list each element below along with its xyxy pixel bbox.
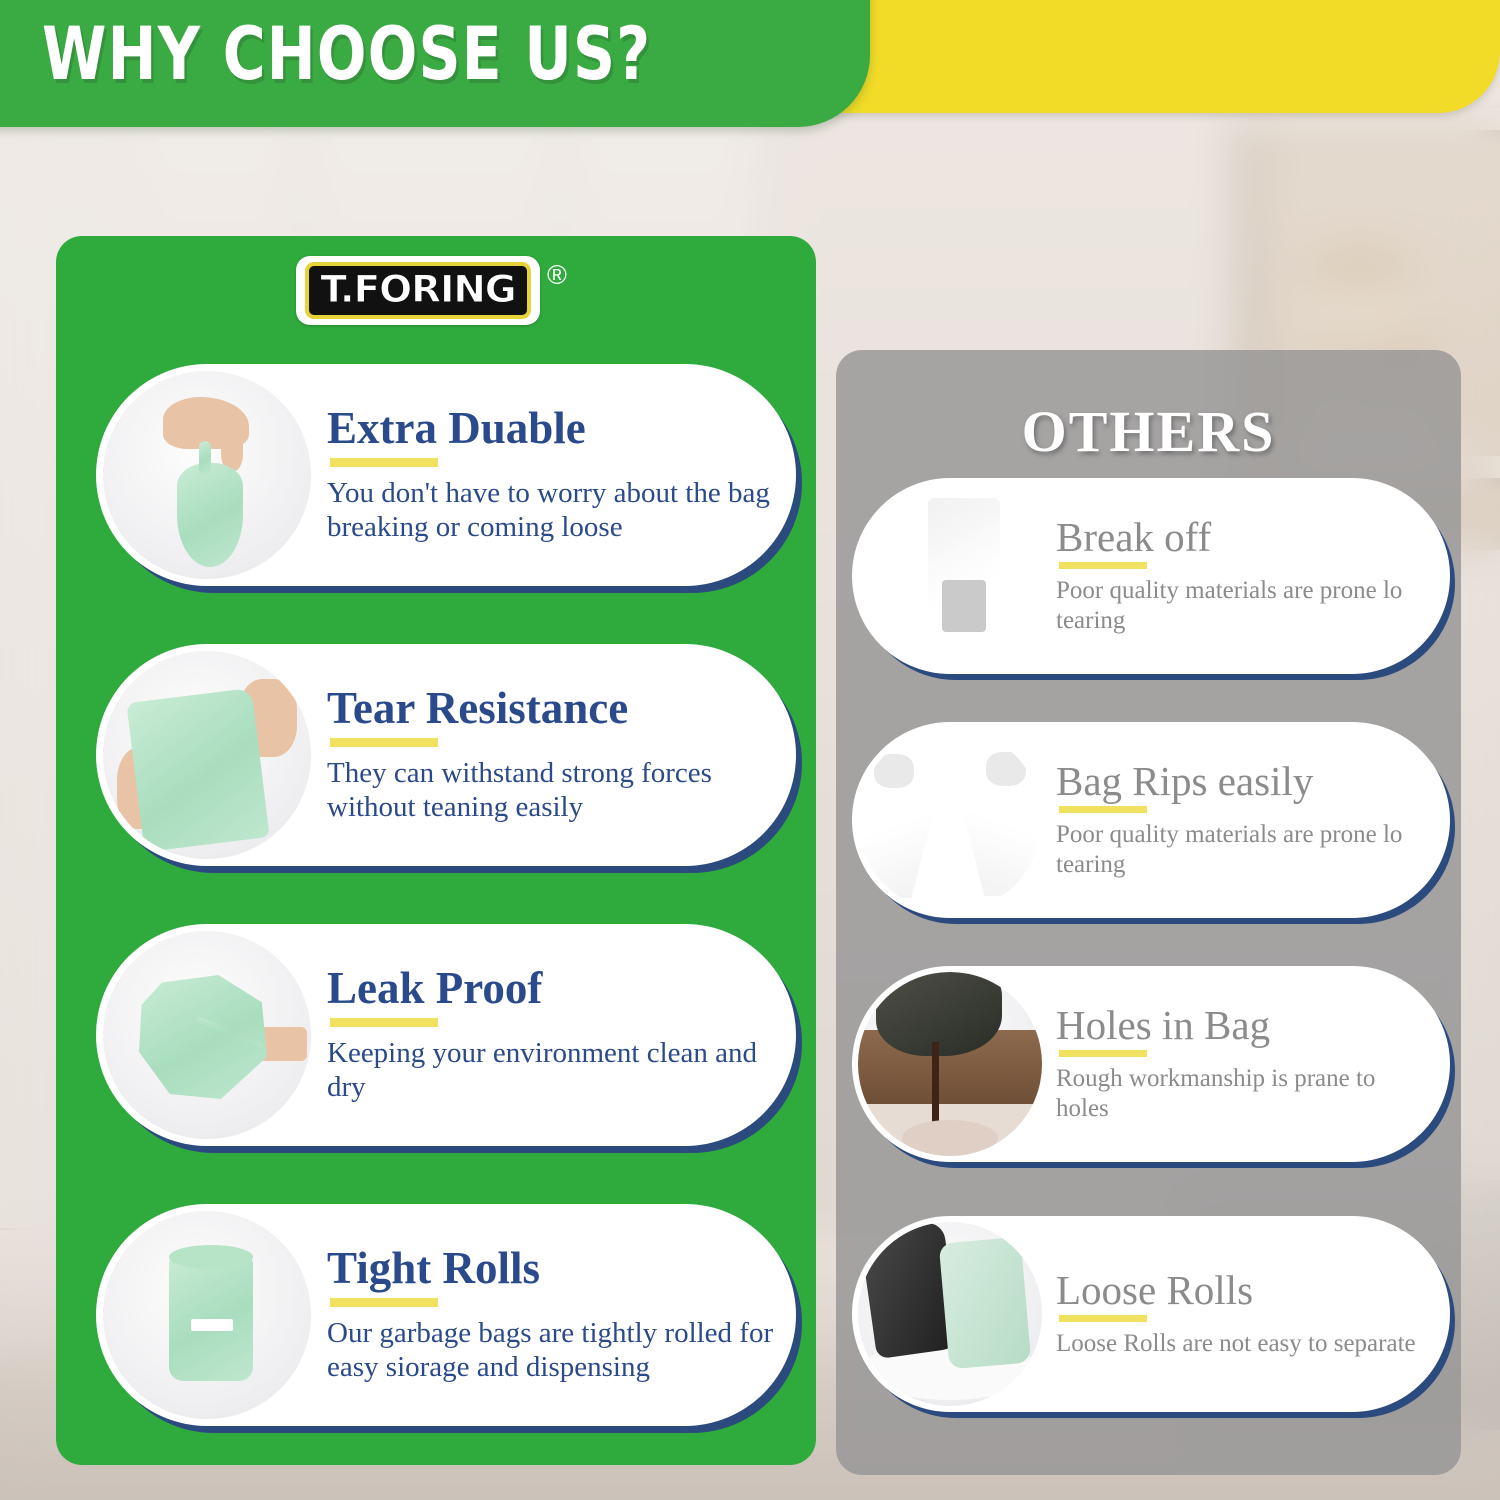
thumbnail-person-carrying-torn-clear-bag [858,484,1042,668]
thumbnail-green-bag-held-upside-down [103,931,311,1139]
thumbnail-hands-stretching-green-bag [103,651,311,859]
title-underline [1059,1315,1147,1322]
others-card-bag-rips-easily[interactable]: Bag Rips easily Poor quality materials a… [852,722,1450,918]
card-title: Break off [1056,516,1432,559]
brand-name: T.FORING [320,271,515,308]
feature-card-leak-proof[interactable]: Leak Proof Keeping your environment clea… [96,924,796,1146]
card-description: Our garbage bags are tightly rolled for … [327,1316,778,1384]
card-title: Bag Rips easily [1056,760,1432,803]
title-underline [1059,562,1147,569]
card-description: You don't have to worry about the bag br… [327,476,778,544]
title-underline [330,1018,438,1027]
others-card-break-off[interactable]: Break off Poor quality materials are pro… [852,478,1450,674]
thumbnail-two-loose-bag-rolls [858,1222,1042,1406]
others-card-holes-in-bag[interactable]: Holes in Bag Rough workmanship is prane … [852,966,1450,1162]
brand-logo: T.FORING ® [296,256,567,325]
thumbnail-hand-holding-green-bag [103,371,311,579]
others-card-loose-rolls[interactable]: Loose Rolls Loose Rolls are not easy to … [852,1216,1450,1412]
card-title: Extra Duable [327,405,778,452]
card-title: Leak Proof [327,965,778,1012]
feature-card-extra-durable[interactable]: Extra Duable You don't have to worry abo… [96,364,796,586]
card-description: Poor quality materials are prone lo tear… [1056,576,1432,636]
card-description: Keeping your environment clean and dry [327,1036,778,1104]
card-description: Poor quality materials are prone lo tear… [1056,820,1432,880]
card-title: Tight Rolls [327,1245,778,1292]
card-description: They can withstand strong forces without… [327,756,778,824]
title-underline [330,1298,438,1307]
title-underline [1059,806,1147,813]
card-title: Holes in Bag [1056,1004,1432,1047]
feature-card-tear-resistance[interactable]: Tear Resistance They can withstand stron… [96,644,796,866]
thumbnail-dark-bag-leaking-liquid [858,972,1042,1156]
card-title: Tear Resistance [327,685,778,732]
feature-card-tight-rolls[interactable]: Tight Rolls Our garbage bags are tightly… [96,1204,796,1426]
thumbnail-hands-ripping-white-bag [858,728,1042,912]
title-underline [1059,1050,1147,1057]
card-title: Loose Rolls [1056,1269,1416,1312]
title-underline [330,738,438,747]
card-description: Loose Rolls are not easy to separate [1056,1329,1416,1359]
card-description: Rough workmanship is prane to holes [1056,1064,1432,1124]
others-heading: OTHERS [836,398,1461,465]
thumbnail-green-bag-roll [103,1211,311,1419]
title-underline [330,458,438,467]
page-title: WHY CHOOSE US? [42,12,651,97]
trademark-icon: ® [547,260,567,291]
header-banner: WHY CHOOSE US? [0,0,870,127]
